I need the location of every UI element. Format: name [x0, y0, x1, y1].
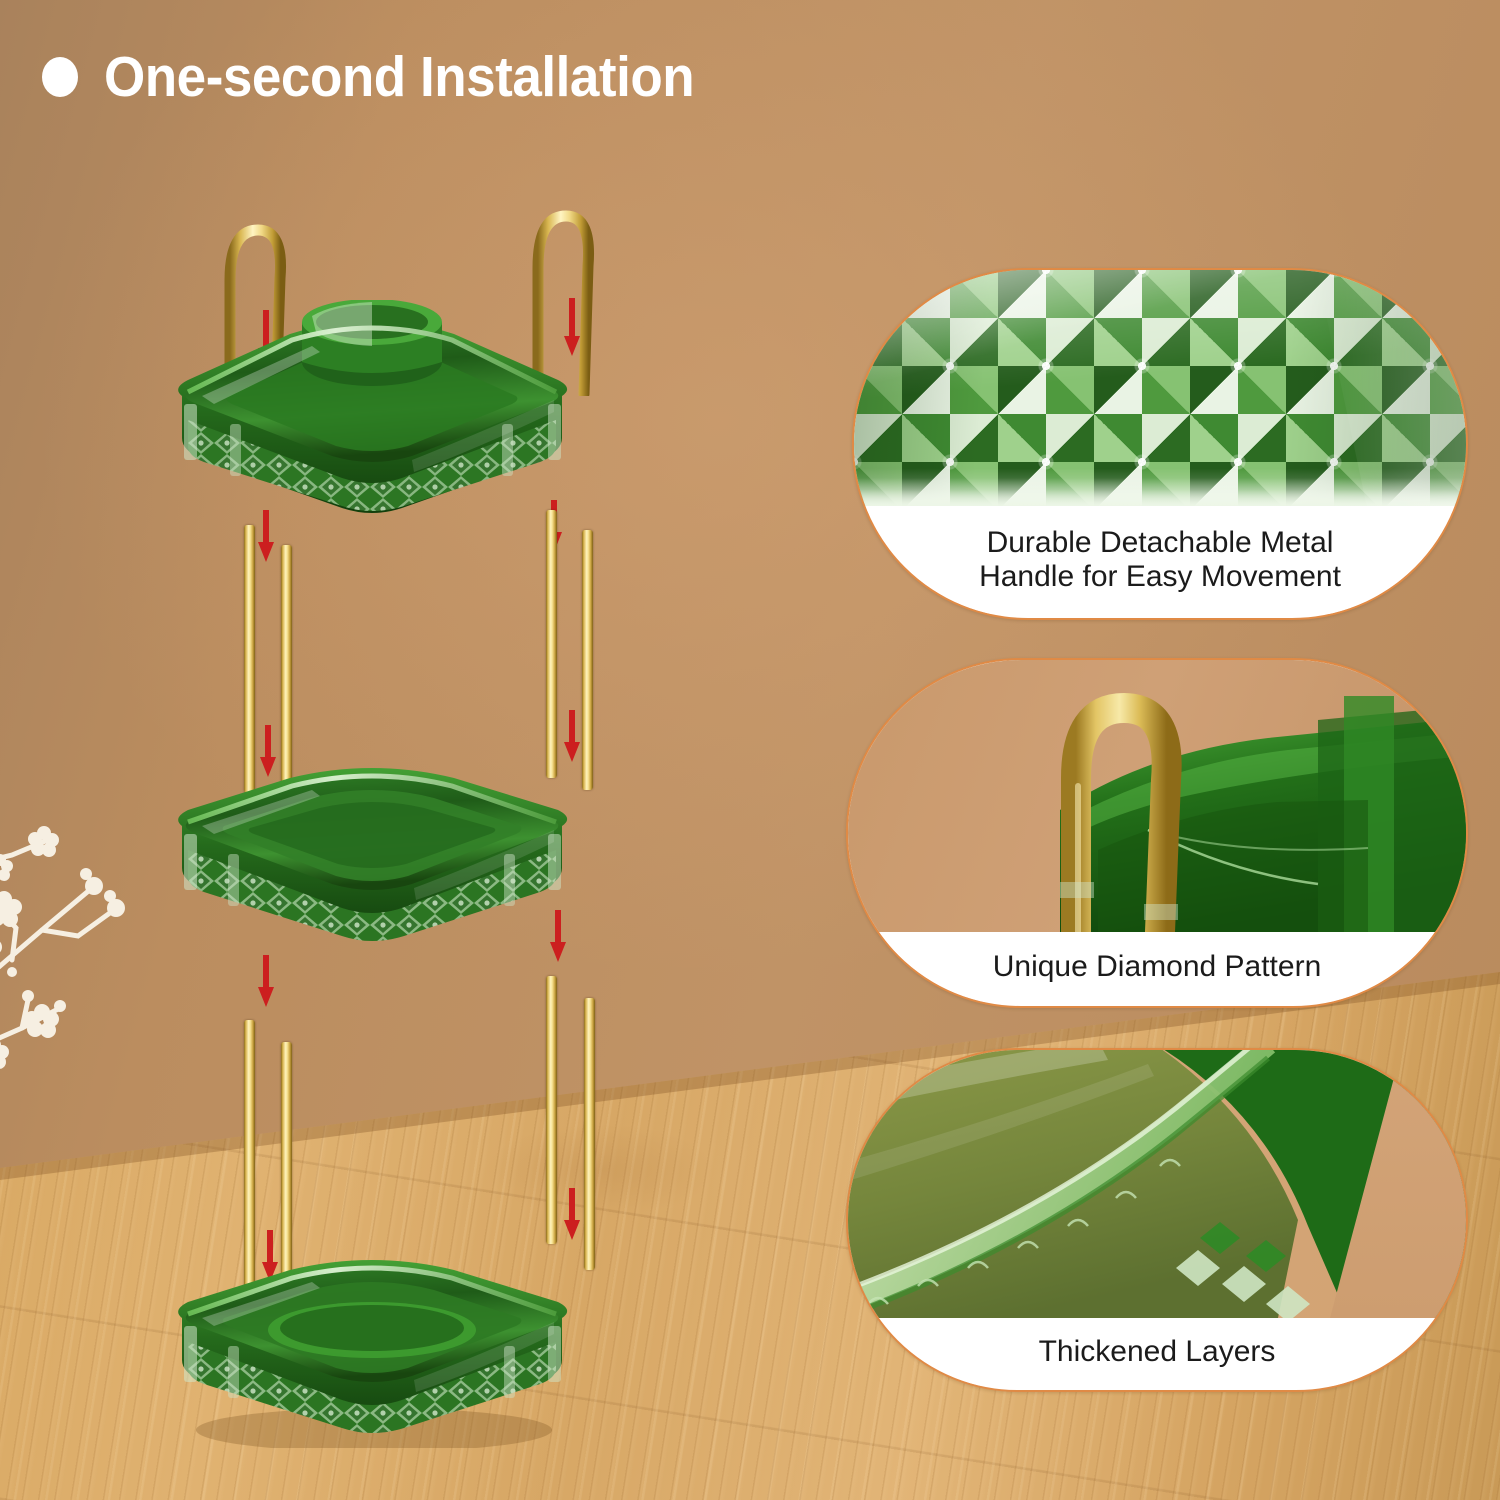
middle-tier [162, 760, 582, 950]
arrow-down-icon [550, 910, 566, 962]
thick-tray-layer-closeup [848, 1050, 1466, 1318]
caption-line-2: Handle for Easy Movement [979, 560, 1341, 594]
caption-line-1: Thickened Layers [1039, 1335, 1276, 1369]
bottom-tier [162, 1248, 582, 1448]
callout-handle-caption: Durable Detachable Metal Handle for Easy… [854, 506, 1466, 614]
callout-layers[interactable]: Thickened Layers [846, 1048, 1468, 1392]
arrow-down-icon [258, 955, 274, 1007]
rod-lower-right-b [584, 998, 595, 1270]
callout-diamond[interactable]: Unique Diamond Pattern [846, 658, 1468, 1008]
page-title-row: One-second Installation [42, 44, 739, 110]
bullet-dot-icon [42, 57, 78, 97]
rod-upper-right-b [582, 530, 593, 790]
caption-line-1: Durable Detachable Metal [987, 526, 1334, 560]
diamond-faceted-texture-closeup [854, 270, 1466, 506]
gold-handle-on-green-tray-closeup [848, 660, 1466, 932]
top-tier [162, 300, 582, 530]
rod-upper-left-a [244, 525, 255, 793]
product-infographic: One-second Installation [0, 0, 1500, 1500]
page-title: One-second Installation [104, 44, 694, 110]
arrow-down-icon [564, 1188, 580, 1240]
exploded-product-diagram [150, 170, 710, 1450]
arrow-down-icon [564, 710, 580, 762]
rod-upper-right-a [546, 510, 557, 778]
callout-handle[interactable]: Durable Detachable Metal Handle for Easy… [852, 268, 1468, 620]
caption-line-1: Unique Diamond Pattern [993, 950, 1322, 984]
rod-lower-right-a [546, 976, 557, 1244]
arrow-down-icon [258, 510, 274, 562]
